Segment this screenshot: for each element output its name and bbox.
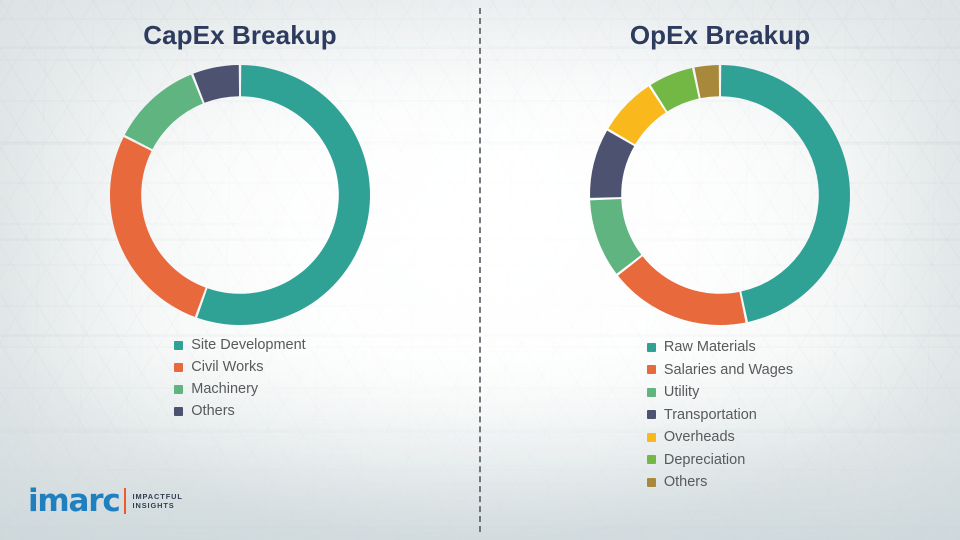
legend-item[interactable]: Others [174,400,305,422]
legend-swatch-icon [647,388,656,397]
legend-swatch-icon [647,455,656,464]
donut-chart-opex-svg [587,62,853,328]
panel-capex: CapEx Breakup Site DevelopmentCivil Work… [0,0,480,540]
donut-chart-capex-container [0,62,480,332]
logo-wordmark: imarc [28,486,120,517]
legend-item-label: Utility [664,385,699,400]
legend-item-label: Machinery [191,382,258,397]
legend-swatch-icon [647,478,656,487]
legend-item-label: Salaries and Wages [664,363,793,378]
legend-item-label: Depreciation [664,453,745,468]
legend-capex-items: Site DevelopmentCivil WorksMachineryOthe… [174,334,305,422]
legend-item[interactable]: Site Development [174,334,305,356]
legend-item-label: Others [191,404,235,419]
legend-swatch-icon [174,407,183,416]
legend-item[interactable]: Depreciation [647,449,793,472]
legend-opex: Raw MaterialsSalaries and WagesUtilityTr… [480,336,960,494]
donut-segment[interactable] [590,199,641,274]
page-title-capex: CapEx Breakup [0,20,480,51]
panel-opex: OpEx Breakup Raw MaterialsSalaries and W… [480,0,960,540]
donut-segment[interactable] [590,131,634,198]
legend-item[interactable]: Others [647,471,793,494]
donut-chart-opex-container [480,62,960,332]
legend-capex: Site DevelopmentCivil WorksMachineryOthe… [0,334,480,422]
legend-item[interactable]: Transportation [647,404,793,427]
legend-opex-items: Raw MaterialsSalaries and WagesUtilityTr… [647,336,793,494]
legend-item-label: Overheads [664,430,735,445]
donut-segment[interactable] [197,65,370,325]
legend-swatch-icon [174,363,183,372]
donut-segment[interactable] [110,137,206,317]
logo-tagline: IMPACTFUL INSIGHTS [133,492,183,511]
legend-item-label: Transportation [664,408,757,423]
legend-item-label: Raw Materials [664,340,756,355]
donut-segment[interactable] [125,75,203,150]
donut-segment[interactable] [721,65,850,322]
page-title-opex: OpEx Breakup [480,20,960,51]
legend-swatch-icon [647,343,656,352]
legend-item[interactable]: Machinery [174,378,305,400]
logo-tagline-line1: IMPACTFUL [133,492,183,501]
donut-segment[interactable] [694,65,719,98]
logo-tagline-line2: INSIGHTS [133,501,183,510]
legend-swatch-icon [174,385,183,394]
legend-item[interactable]: Salaries and Wages [647,359,793,382]
legend-item-label: Civil Works [191,360,263,375]
donut-chart-capex[interactable] [107,62,373,328]
legend-swatch-icon [647,433,656,442]
logo-divider-bar [124,488,126,514]
legend-item[interactable]: Overheads [647,426,793,449]
legend-swatch-icon [174,341,183,350]
legend-item-label: Others [664,475,708,490]
legend-item[interactable]: Raw Materials [647,336,793,359]
slide-canvas: CapEx Breakup Site DevelopmentCivil Work… [0,0,960,540]
imarc-logo[interactable]: imarc IMPACTFUL INSIGHTS [28,484,183,518]
legend-item[interactable]: Civil Works [174,356,305,378]
legend-item[interactable]: Utility [647,381,793,404]
legend-item-label: Site Development [191,338,305,353]
donut-chart-capex-svg [107,62,373,328]
donut-segment[interactable] [618,256,745,325]
legend-swatch-icon [647,365,656,374]
donut-segment[interactable] [193,65,239,103]
legend-swatch-icon [647,410,656,419]
donut-chart-opex[interactable] [587,62,853,328]
